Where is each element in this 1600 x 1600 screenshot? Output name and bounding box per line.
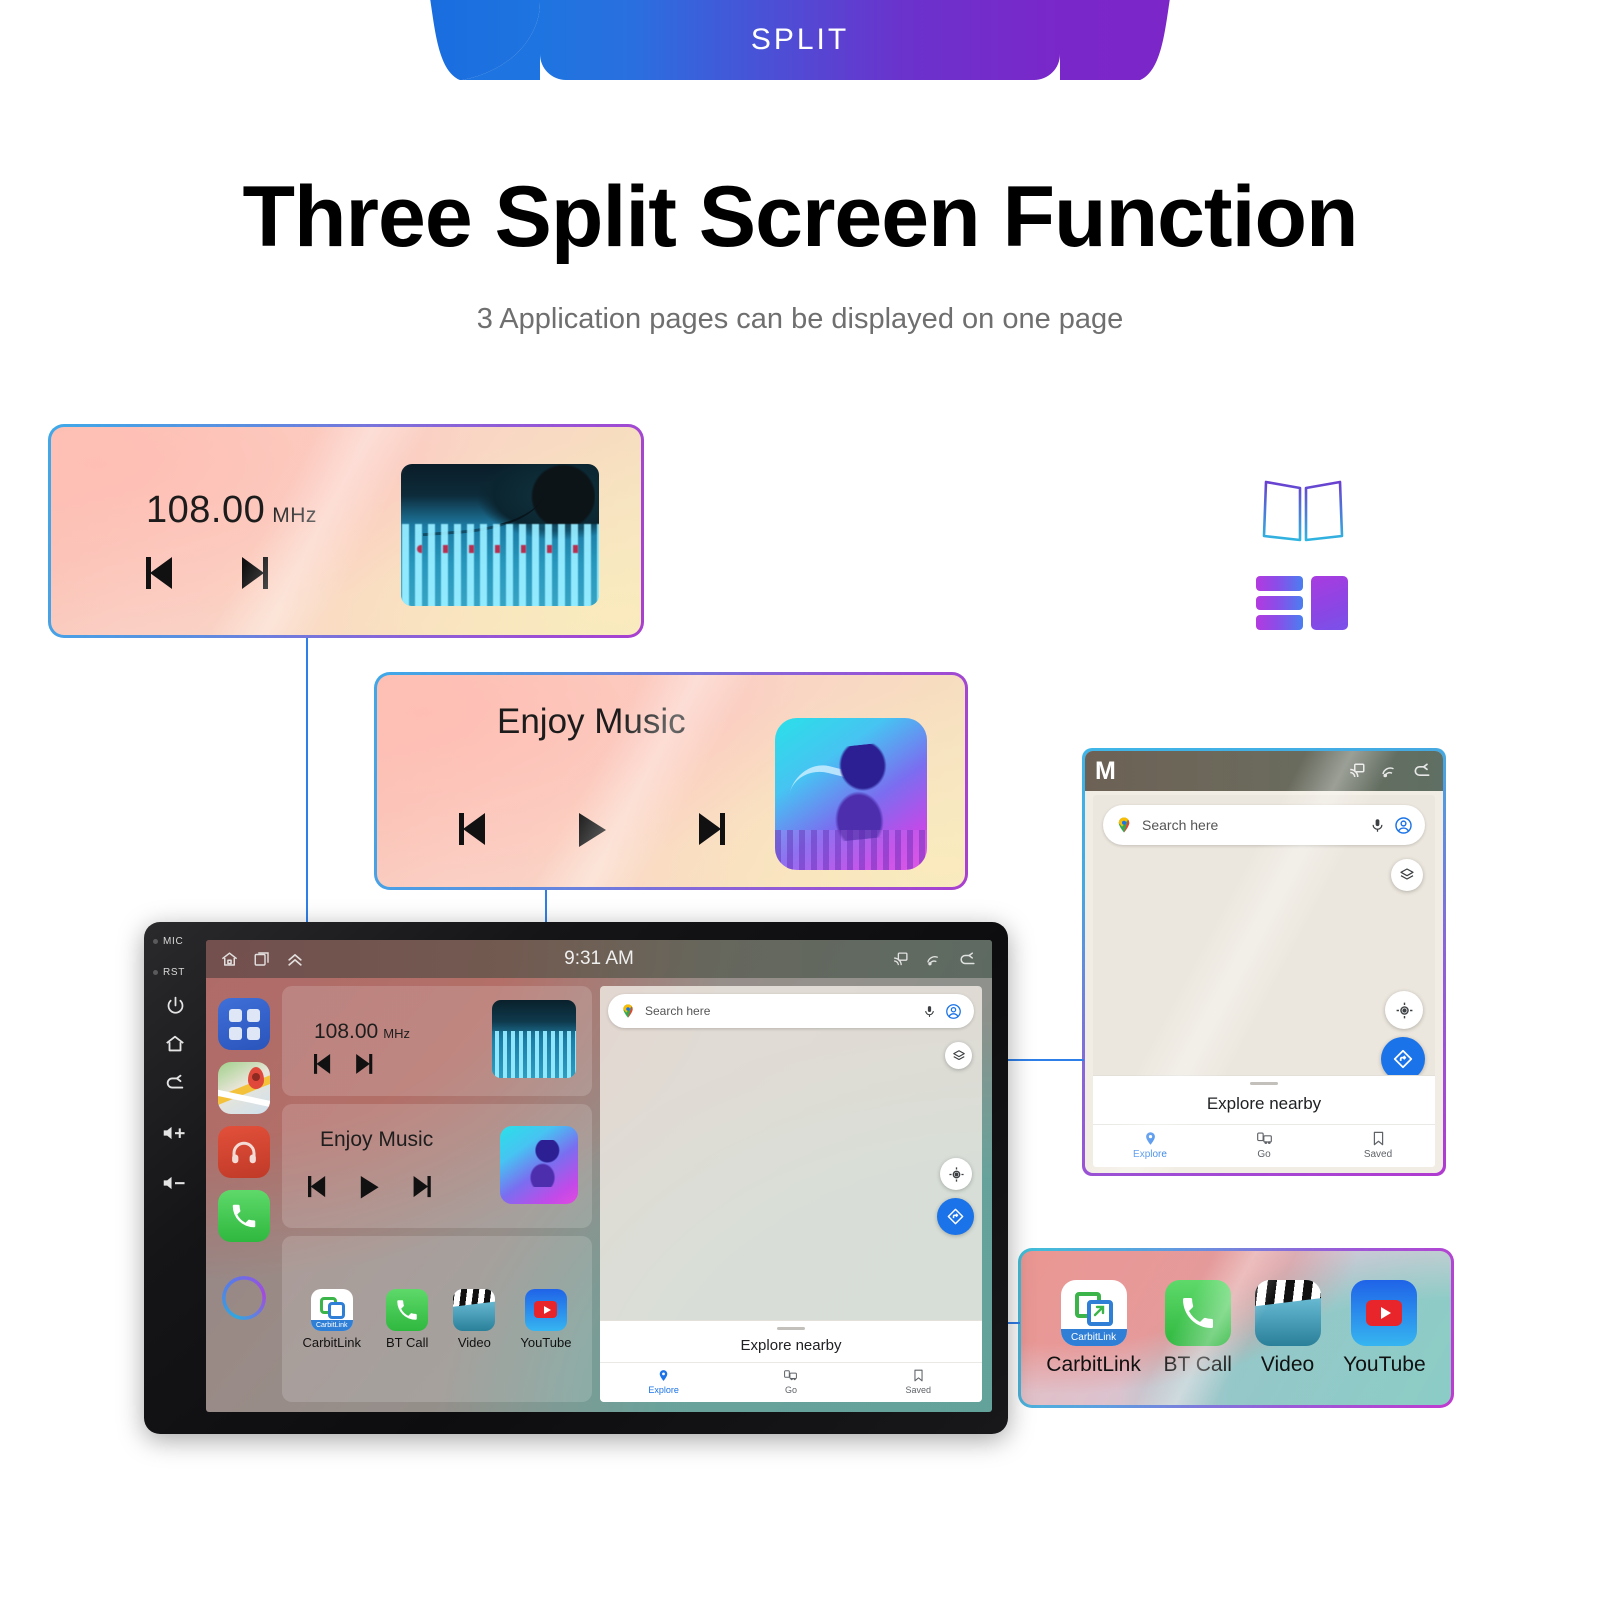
home-icon[interactable]	[164, 1033, 186, 1055]
app-label-video: Video	[1261, 1353, 1314, 1377]
app-tile-bt-call[interactable]: BT Call	[1163, 1280, 1231, 1377]
previous-track-icon[interactable]	[314, 1054, 333, 1074]
app-tile-video[interactable]: Video	[453, 1289, 495, 1350]
tab-explore[interactable]: Explore	[1093, 1131, 1207, 1160]
page-subtitle: 3 Application pages can be displayed on …	[0, 303, 1600, 336]
app-tile-bt-call[interactable]: BT Call	[386, 1289, 428, 1350]
tab-explore-label: Explore	[1133, 1149, 1167, 1160]
panel-music[interactable]: Enjoy Music	[282, 1104, 592, 1228]
app-label-bt-call: BT Call	[386, 1335, 428, 1350]
map-topbar: M	[1085, 751, 1443, 791]
play-icon[interactable]	[577, 813, 607, 847]
panel-apps[interactable]: CarbitLink CarbitLink BT Call	[282, 1236, 592, 1402]
map-pin-icon	[1143, 1131, 1158, 1146]
bookmark-icon	[1372, 1131, 1385, 1146]
panel-music-title: Enjoy Music	[320, 1128, 433, 1152]
clapperboard-icon	[453, 1289, 495, 1331]
app-label-carbitlink: CarbitLink	[1046, 1353, 1141, 1377]
split-layout-bar	[1256, 615, 1303, 630]
tab-go-label: Go	[785, 1385, 797, 1395]
play-icon[interactable]	[359, 1176, 379, 1198]
head-unit-bezel: MIC RST	[144, 922, 206, 1434]
headphones-icon[interactable]	[218, 1126, 270, 1178]
panel-map[interactable]: Search here	[600, 986, 982, 1402]
home-icon[interactable]	[220, 950, 239, 969]
rst-indicator: RST	[149, 967, 201, 978]
sheet-title: Explore nearby	[600, 1330, 982, 1362]
next-track-icon[interactable]	[411, 1176, 431, 1197]
tab-saved-label: Saved	[906, 1385, 932, 1395]
map-app-letter: M	[1095, 757, 1116, 786]
split-banner: SPLIT	[540, 0, 1060, 80]
wifi-icon[interactable]	[1379, 762, 1399, 780]
split-layout-bars	[1256, 576, 1303, 630]
power-icon[interactable]	[165, 995, 186, 1016]
split-layout-icon	[1256, 576, 1348, 630]
back-icon[interactable]	[957, 950, 978, 969]
carbitlink-badge: CarbitLink	[311, 1320, 353, 1331]
tab-saved[interactable]: Saved	[855, 1369, 982, 1395]
tab-go-label: Go	[1257, 1149, 1270, 1160]
phone-icon	[386, 1289, 428, 1331]
google-maps-pin-icon	[1115, 816, 1133, 834]
map-search-placeholder: Search here	[645, 1004, 914, 1018]
map-search-bar[interactable]: Search here	[608, 994, 974, 1028]
tab-explore-label: Explore	[648, 1385, 679, 1395]
map-bottom-tabs: Explore Go	[1093, 1124, 1435, 1167]
app-label-youtube: YouTube	[520, 1335, 571, 1350]
back-icon[interactable]	[1411, 761, 1433, 781]
split-left-column: 108.00MHz Enjoy Music	[282, 986, 592, 1402]
map-pin-icon	[657, 1369, 670, 1382]
layers-icon[interactable]	[945, 1042, 972, 1069]
audio-mixer-thumbnail	[492, 1000, 576, 1078]
carbitlink-icon: CarbitLink	[311, 1289, 353, 1331]
banner-left-wing	[430, 0, 540, 80]
youtube-icon	[525, 1289, 567, 1331]
my-location-icon[interactable]	[1385, 991, 1423, 1029]
chevron-up-icon[interactable]	[285, 949, 305, 969]
banner-right-wing	[1060, 0, 1170, 80]
map-callout-card: M	[1082, 748, 1446, 1176]
wifi-icon[interactable]	[924, 951, 943, 968]
previous-track-icon[interactable]	[459, 813, 489, 845]
map-search-placeholder: Search here	[1142, 817, 1361, 833]
app-label-youtube: YouTube	[1343, 1353, 1426, 1377]
status-bar-time: 9:31 AM	[206, 948, 992, 970]
microphone-icon[interactable]	[1370, 817, 1385, 834]
split-book-icon	[1258, 478, 1348, 546]
phone-icon	[1165, 1280, 1231, 1346]
carbitlink-badge: CarbitLink	[1061, 1329, 1127, 1346]
music-title: Enjoy Music	[497, 702, 686, 742]
tab-go[interactable]: Go	[727, 1369, 854, 1395]
microphone-icon[interactable]	[923, 1004, 936, 1019]
navigate-icon[interactable]	[937, 1198, 974, 1235]
panel-radio-frequency: 108.00MHz	[314, 1020, 410, 1044]
screen-sidebar	[212, 986, 276, 1406]
explore-nearby-sheet: Explore nearby Explore	[1093, 1075, 1435, 1167]
apps-callout-card: CarbitLink CarbitLink BT Call Video Yo	[1018, 1248, 1454, 1408]
audio-mixer-thumbnail	[401, 464, 599, 606]
cast-icon[interactable]	[891, 951, 910, 968]
app-label-video: Video	[458, 1335, 491, 1350]
banner-label: SPLIT	[751, 23, 849, 57]
map-search-bar[interactable]: Search here	[1103, 805, 1425, 845]
account-icon[interactable]	[945, 1003, 962, 1020]
back-icon[interactable]	[164, 1072, 186, 1094]
page-title: Three Split Screen Function	[0, 168, 1600, 267]
tab-explore[interactable]: Explore	[600, 1369, 727, 1395]
explore-nearby-sheet: Explore nearby Explore	[600, 1320, 982, 1402]
layers-icon[interactable]	[1391, 859, 1423, 891]
previous-track-icon[interactable]	[308, 1176, 328, 1197]
radio-frequency: 108.00MHz	[146, 489, 317, 532]
mic-label: MIC	[163, 936, 183, 947]
recents-icon[interactable]	[253, 950, 271, 968]
tab-saved[interactable]: Saved	[1321, 1131, 1435, 1160]
map-body: Search here	[1093, 795, 1435, 1167]
app-tile-youtube[interactable]: YouTube	[520, 1289, 571, 1350]
apps-grid-icon[interactable]	[218, 998, 270, 1050]
app-label-bt-call: BT Call	[1163, 1353, 1231, 1377]
rst-label: RST	[163, 967, 185, 978]
app-tile-video[interactable]: Video	[1255, 1280, 1321, 1377]
account-icon[interactable]	[1394, 816, 1413, 835]
panel-radio[interactable]: 108.00MHz	[282, 986, 592, 1096]
next-track-icon[interactable]	[238, 557, 268, 589]
google-maps-pin-icon	[620, 1003, 636, 1019]
split-layout-block	[1311, 576, 1348, 630]
singer-album-art	[775, 718, 927, 870]
phone-icon[interactable]	[218, 1190, 270, 1242]
tab-saved-label: Saved	[1364, 1149, 1392, 1160]
next-track-icon[interactable]	[695, 813, 725, 845]
page-root: SPLIT Three Split Screen Function 3 Appl…	[0, 0, 1600, 1600]
head-unit-status-bar: 9:31 AM	[206, 940, 992, 978]
app-label-carbitlink: CarbitLink	[302, 1335, 361, 1350]
previous-track-icon[interactable]	[146, 557, 176, 589]
app-tile-carbitlink[interactable]: CarbitLink CarbitLink	[302, 1289, 361, 1350]
radio-callout-card: 108.00MHz	[48, 424, 644, 638]
mic-indicator: MIC	[149, 936, 201, 947]
tab-go[interactable]: Go	[1207, 1131, 1321, 1160]
split-layout-bar	[1256, 576, 1303, 591]
radio-unit: MHz	[272, 504, 317, 527]
bookmark-icon	[913, 1369, 924, 1382]
app-tile-youtube[interactable]: YouTube	[1343, 1280, 1426, 1377]
volume-up-icon[interactable]	[162, 1124, 188, 1142]
singer-album-art	[500, 1126, 578, 1204]
music-callout-card: Enjoy Music	[374, 672, 968, 890]
sheet-title: Explore nearby	[1093, 1085, 1435, 1124]
next-track-icon[interactable]	[354, 1054, 373, 1074]
app-tile-carbitlink[interactable]: CarbitLink CarbitLink	[1046, 1280, 1141, 1377]
clapperboard-icon	[1255, 1280, 1321, 1346]
volume-down-icon[interactable]	[162, 1174, 188, 1192]
head-unit-screen: 9:31 AM	[206, 940, 992, 1412]
maps-icon[interactable]	[218, 1062, 270, 1114]
youtube-icon	[1351, 1280, 1417, 1346]
cast-icon[interactable]	[1347, 762, 1367, 780]
assistant-ring-icon[interactable]	[222, 1276, 266, 1320]
car-head-unit: MIC RST	[144, 922, 1008, 1434]
split-layout-bar	[1256, 596, 1303, 611]
map-bottom-tabs: Explore Go	[600, 1362, 982, 1402]
my-location-icon[interactable]	[940, 1158, 972, 1190]
commute-icon	[783, 1369, 798, 1382]
commute-icon	[1256, 1131, 1273, 1146]
carbitlink-icon: CarbitLink	[1061, 1280, 1127, 1346]
